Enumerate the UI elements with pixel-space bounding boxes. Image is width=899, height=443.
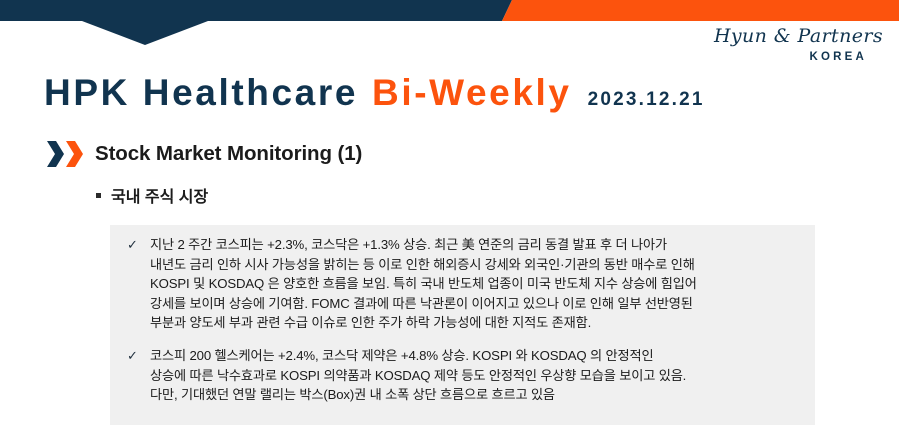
paragraph-line: 강세를 보이며 상승에 기여함. FOMC 결과에 따른 낙관론이 이어지고 있… bbox=[150, 294, 801, 314]
chevron-right-icon-orange bbox=[66, 141, 83, 167]
navy-notch-shape bbox=[82, 21, 208, 45]
page-title-accent: Bi-Weekly bbox=[372, 72, 572, 114]
topbar-navy-segment bbox=[0, 0, 512, 21]
paragraph-line: KOSPI 및 KOSDAQ 은 양호한 흐름을 보임. 특히 국내 반도체 업… bbox=[150, 274, 801, 294]
paragraph-line: 부분과 양도세 부과 관련 수급 이슈로 인한 주가 하락 가능성에 대한 지적… bbox=[150, 313, 801, 333]
list-item: ✓ 코스피 200 헬스케어는 +2.4%, 코스닥 제약은 +4.8% 상승.… bbox=[124, 346, 801, 405]
paragraph-line: 내년도 금리 인하 시사 가능성을 밝히는 등 이로 인한 해외증시 강세와 외… bbox=[150, 255, 801, 275]
paragraph-line: 상승에 따른 낙수효과로 KOSPI 의약품과 KOSDAQ 제약 등도 안정적… bbox=[150, 366, 801, 386]
paragraph-line: 다만, 기대했던 연말 랠리는 박스(Box)권 내 소폭 상단 흐름으로 흐르… bbox=[150, 385, 801, 405]
paragraph-line: 코스피 200 헬스케어는 +2.4%, 코스닥 제약은 +4.8% 상승. K… bbox=[150, 346, 801, 366]
section-heading-label: Stock Market Monitoring (1) bbox=[95, 142, 362, 166]
top-decorative-bar bbox=[0, 0, 899, 21]
brand-logo: Hyun & Partners KOREA bbox=[714, 27, 883, 64]
slide-page: Hyun & Partners KOREA HPK Healthcare Bi-… bbox=[0, 0, 899, 443]
brand-korea-text: KOREA bbox=[714, 52, 883, 64]
list-item-body: 코스피 200 헬스케어는 +2.4%, 코스닥 제약은 +4.8% 상승. K… bbox=[150, 346, 801, 405]
list-item: ✓ 지난 2 주간 코스피는 +2.3%, 코스닥은 +1.3% 상승. 최근 … bbox=[124, 235, 801, 333]
page-date: 2023.12.21 bbox=[588, 89, 705, 111]
page-title: HPK Healthcare Bi-Weekly 2023.12.21 bbox=[44, 72, 705, 114]
page-title-main: HPK Healthcare bbox=[44, 72, 358, 114]
chevron-right-icon-navy bbox=[47, 141, 64, 167]
topbar-orange-segment bbox=[500, 0, 899, 21]
check-icon: ✓ bbox=[124, 235, 150, 333]
list-item-body: 지난 2 주간 코스피는 +2.3%, 코스닥은 +1.3% 상승. 최근 美 … bbox=[150, 235, 801, 333]
subsection-heading-label: 국내 주식 시장 bbox=[111, 183, 208, 207]
paragraph-line: 지난 2 주간 코스피는 +2.3%, 코스닥은 +1.3% 상승. 최근 美 … bbox=[150, 235, 801, 255]
check-icon: ✓ bbox=[124, 346, 150, 405]
content-panel: ✓ 지난 2 주간 코스피는 +2.3%, 코스닥은 +1.3% 상승. 최근 … bbox=[110, 225, 815, 425]
section-heading: Stock Market Monitoring (1) bbox=[47, 141, 362, 167]
square-bullet-icon bbox=[96, 193, 101, 198]
brand-script-text: Hyun & Partners bbox=[714, 27, 883, 46]
subsection-heading: 국내 주식 시장 bbox=[96, 183, 208, 207]
double-chevron-icon bbox=[47, 141, 83, 167]
